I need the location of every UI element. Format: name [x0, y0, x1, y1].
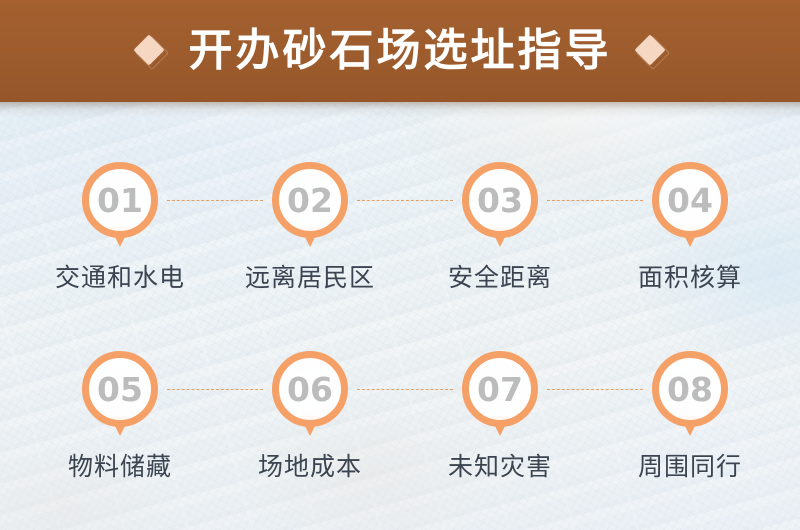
title-row: 开办砂石场选址指导 [137, 29, 664, 73]
item-number-01: 01 [97, 184, 143, 217]
item-number-03: 03 [477, 184, 523, 217]
item-number-04: 04 [667, 184, 713, 217]
connector-06-07 [357, 389, 453, 390]
connector-05-06 [167, 389, 263, 390]
pin-ring-01: 01 [82, 162, 158, 238]
pin-ring-06: 06 [272, 351, 348, 427]
map-pin-icon-08: 08 [652, 351, 728, 441]
connector-02-03 [357, 200, 453, 201]
header-drop-shadow [0, 102, 800, 118]
item-number-02: 02 [287, 184, 333, 217]
item-number-06: 06 [287, 373, 333, 406]
map-pin-icon-05: 05 [82, 351, 158, 441]
pin-ring-02: 02 [272, 162, 348, 238]
item-07[interactable]: 07 未知灾害 [405, 351, 595, 481]
item-04[interactable]: 04 面积核算 [595, 162, 785, 292]
item-number-05: 05 [97, 373, 143, 406]
item-label-02: 远离居民区 [215, 264, 405, 292]
page-title: 开办砂石场选址指导 [189, 29, 612, 73]
item-label-08: 周围同行 [595, 453, 785, 481]
pin-ring-07: 07 [462, 351, 538, 427]
pin-ring-03: 03 [462, 162, 538, 238]
diamond-left-icon [137, 38, 163, 64]
item-label-04: 面积核算 [595, 264, 785, 292]
connector-07-08 [547, 389, 643, 390]
map-pin-icon-07: 07 [462, 351, 538, 441]
item-label-05: 物料储藏 [25, 453, 215, 481]
map-pin-icon-02: 02 [272, 162, 348, 252]
item-02[interactable]: 02 远离居民区 [215, 162, 405, 292]
map-pin-icon-03: 03 [462, 162, 538, 252]
map-pin-icon-06: 06 [272, 351, 348, 441]
item-number-08: 08 [667, 373, 713, 406]
pin-ring-08: 08 [652, 351, 728, 427]
item-label-03: 安全距离 [405, 264, 595, 292]
map-pin-icon-04: 04 [652, 162, 728, 252]
item-06[interactable]: 06 场地成本 [215, 351, 405, 481]
item-01[interactable]: 01 交通和水电 [25, 162, 215, 292]
item-label-07: 未知灾害 [405, 453, 595, 481]
connector-01-02 [167, 200, 263, 201]
diamond-right-icon [638, 38, 664, 64]
pin-ring-05: 05 [82, 351, 158, 427]
infographic-poster: 开办砂石场选址指导 01 交通和水电 02 [0, 0, 800, 530]
item-03[interactable]: 03 安全距离 [405, 162, 595, 292]
connector-03-04 [547, 200, 643, 201]
header-bar: 开办砂石场选址指导 [0, 0, 800, 102]
item-label-01: 交通和水电 [25, 264, 215, 292]
items-grid: 01 交通和水电 02 远离居民区 03 安全距离 [0, 102, 800, 530]
item-number-07: 07 [477, 373, 523, 406]
item-label-06: 场地成本 [215, 453, 405, 481]
item-05[interactable]: 05 物料储藏 [25, 351, 215, 481]
item-08[interactable]: 08 周围同行 [595, 351, 785, 481]
map-pin-icon-01: 01 [82, 162, 158, 252]
pin-ring-04: 04 [652, 162, 728, 238]
